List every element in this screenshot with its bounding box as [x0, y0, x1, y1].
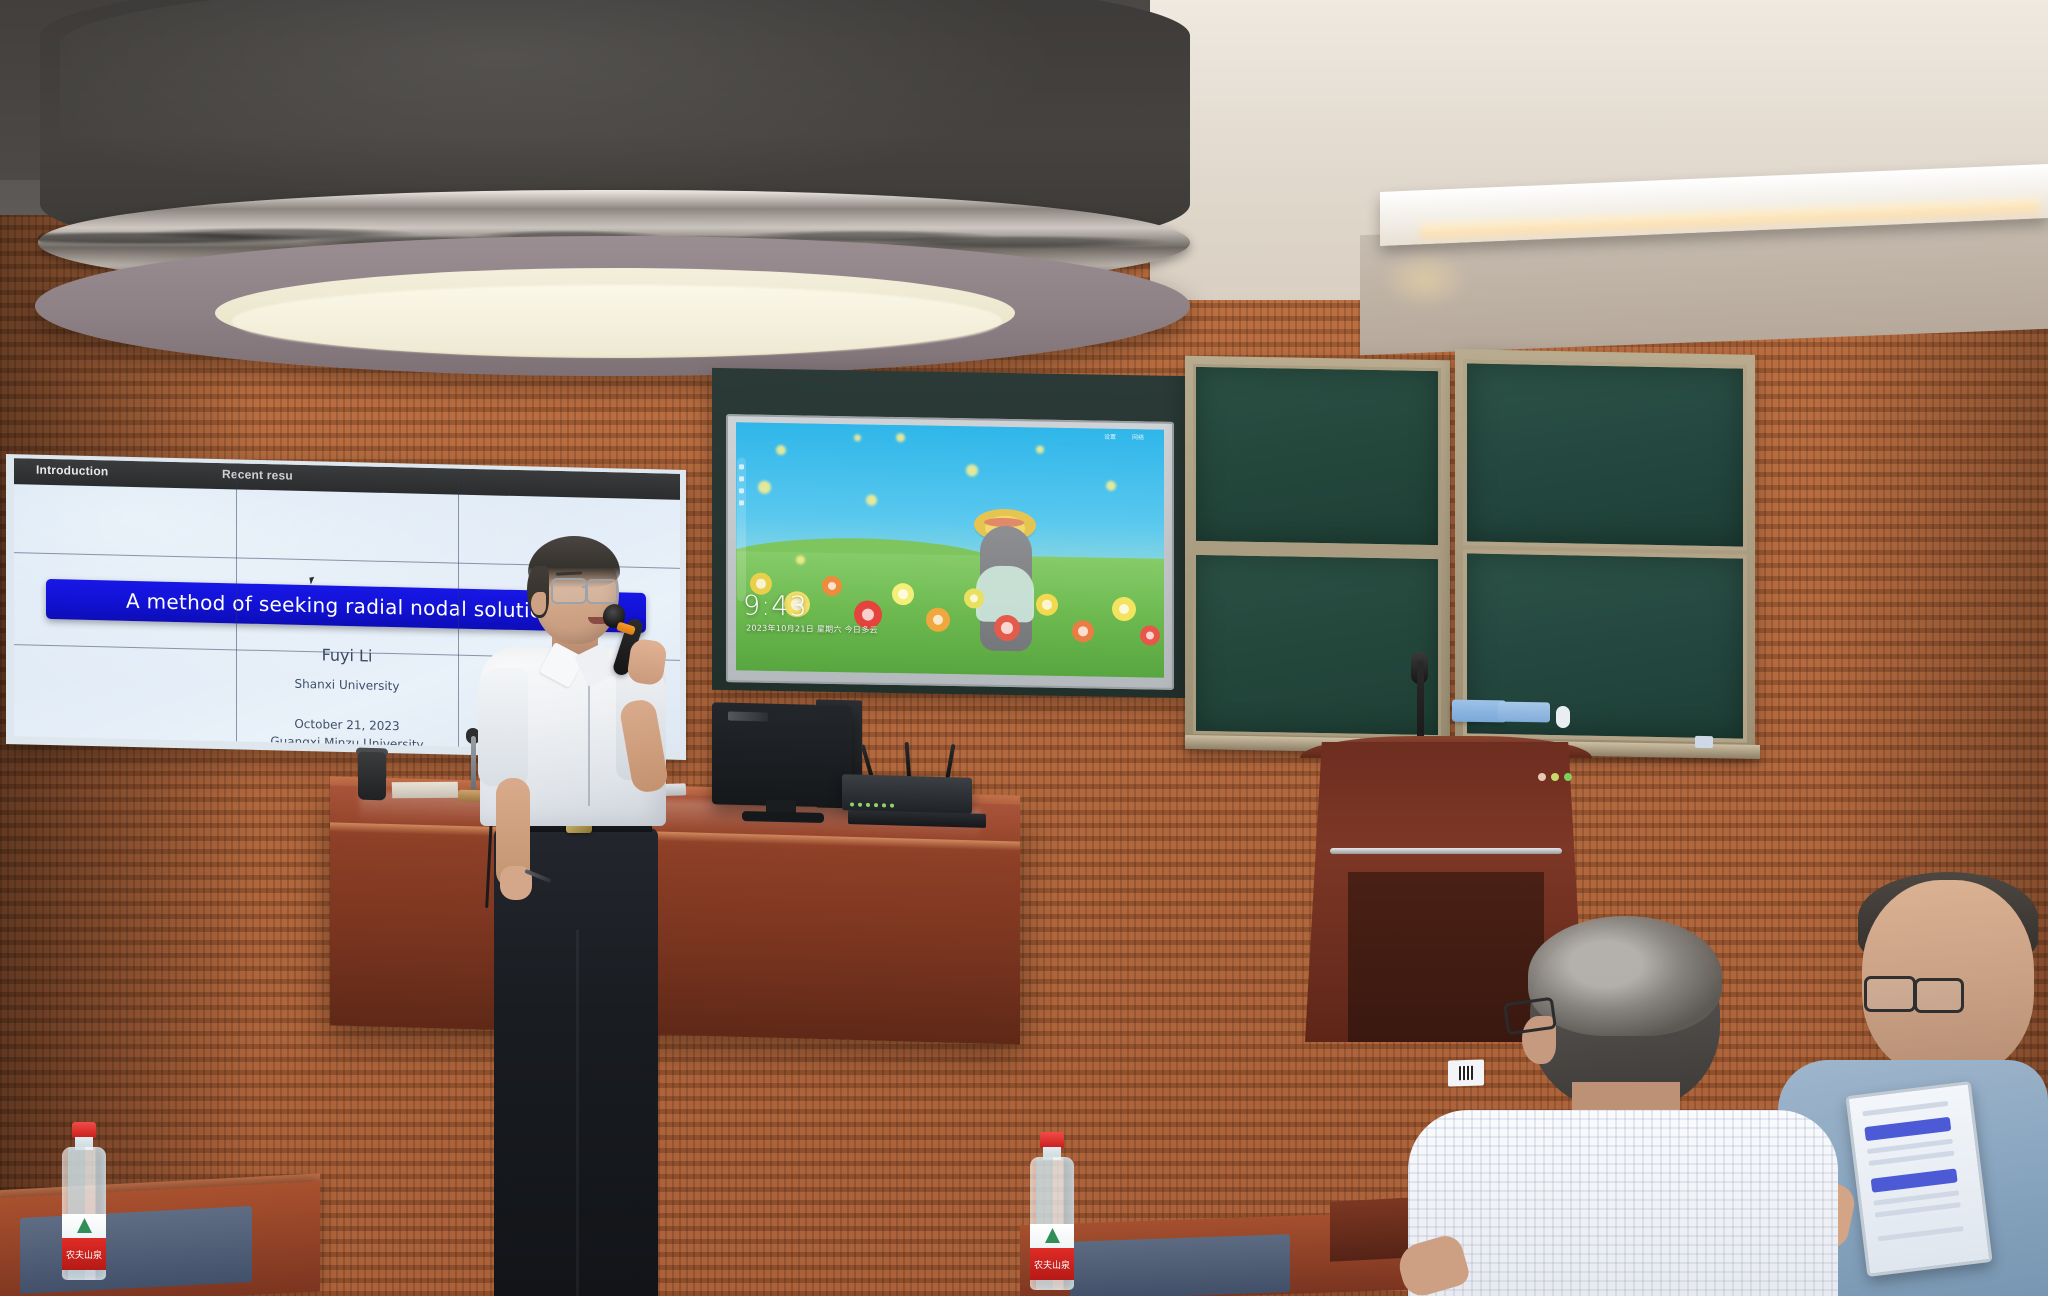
bottle-cap [1040, 1132, 1064, 1148]
blackboard-eraser[interactable] [1498, 702, 1550, 723]
mouse-cursor-icon [309, 577, 315, 585]
bottle-cap [72, 1122, 96, 1138]
tablet-device[interactable] [1845, 1081, 1992, 1277]
bokeh-dot [966, 464, 978, 476]
qr-code-icon [1459, 1066, 1473, 1080]
papers-on-desk[interactable] [392, 782, 459, 798]
attendee-right-glasses-left [1864, 976, 1916, 1012]
chalkboard-right [1455, 349, 1755, 755]
tablet-highlight-bar [1864, 1117, 1951, 1141]
whiteboard-status-item[interactable]: 网络 [1132, 432, 1144, 444]
presenter-ear [531, 592, 546, 615]
chalkboard-panel-upper-right [1463, 359, 1747, 550]
presenter-glasses-left-lens [551, 578, 587, 604]
podium-metal-rail [1330, 848, 1562, 854]
bottle-label-lower: 农夫山泉 [62, 1238, 106, 1270]
bottle-brand-text: 农夫山泉 [1034, 1258, 1070, 1271]
presenter-left-sleeve [478, 668, 528, 786]
bottle-brand-text: 农夫山泉 [66, 1248, 102, 1261]
whiteboard-clock-date: 2023年10月21日 星期六 今日多云 [746, 622, 878, 635]
podium-led-2 [1551, 773, 1559, 781]
tablet-content-line [1868, 1151, 1954, 1166]
audience-desk-left-pad [20, 1206, 252, 1294]
bokeh-dot [866, 495, 877, 506]
bokeh-dot [758, 481, 771, 494]
switch-led [858, 803, 862, 807]
water-bottle-center[interactable]: 农夫山泉 [1030, 1132, 1074, 1290]
bottle-label-lower: 农夫山泉 [1030, 1248, 1074, 1280]
whiteboard-clock: 9:43 [743, 590, 808, 622]
water-bottle-left[interactable]: 农夫山泉 [62, 1122, 106, 1280]
bokeh-dot [776, 445, 786, 455]
wallpaper-flower [1036, 594, 1058, 616]
monitor-stand-base [742, 811, 824, 823]
wallpaper-flower [1072, 620, 1094, 642]
toolbar-icon[interactable] [739, 476, 744, 481]
slide-nav-item-recent-results[interactable]: Recent resu [222, 467, 293, 483]
chalkboard-panel-lower-left [1193, 552, 1441, 738]
audience-desk-center-pad [1070, 1234, 1290, 1296]
presenter-shirt-placket [588, 676, 590, 806]
panel-seam-vertical [458, 469, 459, 747]
monitor-brand-logo [728, 712, 768, 722]
wallpaper-flower [1140, 625, 1160, 645]
attendee-front-hair [1528, 916, 1722, 1036]
wallpaper-flower [822, 576, 842, 596]
wallpaper-flower [892, 583, 914, 605]
slide-nav-item-introduction[interactable]: Introduction [36, 463, 108, 479]
presenter-glasses-bridge [582, 586, 588, 588]
switch-led [890, 804, 894, 808]
whiteboard-side-toolbar[interactable] [737, 457, 746, 601]
panel-seam-vertical [236, 463, 237, 741]
slide-title-text: A method of seeking radial nodal solutio… [126, 589, 566, 623]
podium-led-1 [1538, 773, 1546, 781]
pendant-light-glow [232, 285, 1002, 357]
wallpaper-flower [1112, 597, 1136, 621]
podium-led-3 [1564, 773, 1572, 781]
whiteboard-status-item[interactable]: 设置 [1104, 432, 1116, 444]
podium-indicator-lights [1538, 772, 1592, 782]
switch-led [866, 803, 870, 807]
wallpaper-flower [994, 615, 1020, 641]
toolbar-icon[interactable] [739, 464, 744, 469]
travel-mug[interactable] [358, 752, 386, 801]
bokeh-dot [1106, 481, 1116, 491]
switch-led [850, 802, 854, 806]
board-knob[interactable] [1556, 706, 1570, 728]
attendee-front-shirt [1408, 1110, 1838, 1296]
toolbar-icon[interactable] [739, 488, 744, 493]
switch-led [882, 803, 886, 807]
chalkboard-panel-upper-left [1193, 364, 1441, 548]
switch-led [874, 803, 878, 807]
lecture-hall-photo: Introduction Recent resu A method of see… [0, 0, 2048, 1296]
bokeh-dot [1036, 446, 1044, 454]
chalk-box[interactable] [1695, 736, 1713, 748]
chalkboard-left [1185, 356, 1450, 751]
tablet-highlight-bar [1871, 1168, 1958, 1192]
interactive-whiteboard-screen[interactable]: 设置 网络 9:43 2023年10月21日 星期六 今日多云 [736, 422, 1164, 677]
podium-microphone-stem [1417, 660, 1424, 744]
tablet-content-line [1878, 1226, 1964, 1241]
wall-qr-sign [1448, 1059, 1484, 1086]
bokeh-dot [796, 555, 805, 564]
wallpaper-flower [964, 588, 984, 608]
attendee-right-glasses-right [1914, 978, 1964, 1013]
toolbar-icon[interactable] [739, 500, 744, 505]
presenter-glasses-right-lens [586, 579, 618, 604]
presenter-leg-seam [576, 930, 579, 1296]
wallpaper-figure-dress [976, 565, 1034, 622]
tablet-content-line [1862, 1101, 1948, 1116]
tablet-content-line [1875, 1202, 1961, 1217]
wallpaper-flower [926, 608, 950, 632]
lens-flare [1380, 250, 1470, 310]
